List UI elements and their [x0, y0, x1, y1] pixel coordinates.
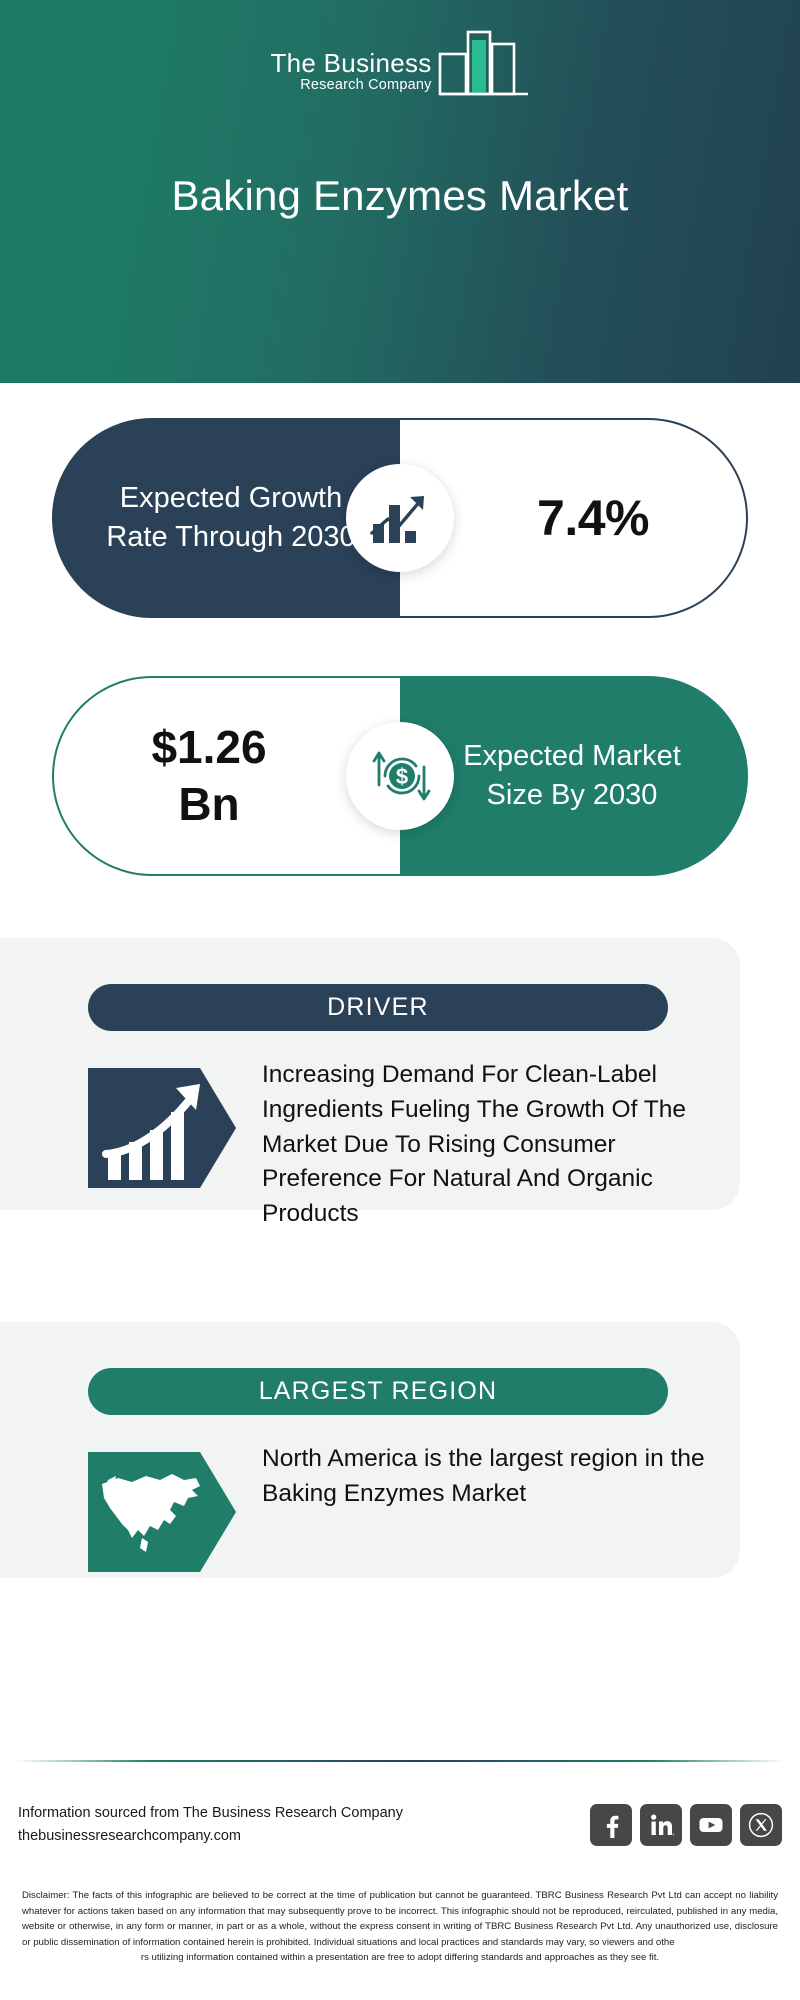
- logo-primary-text: The Business: [270, 50, 431, 76]
- svg-text:$: $: [396, 764, 408, 789]
- region-heading-pill: LARGEST REGION: [88, 1368, 668, 1415]
- social-links: ®: [590, 1804, 782, 1846]
- footer-website-link[interactable]: thebusinessresearchcompany.com: [18, 1825, 403, 1848]
- youtube-icon[interactable]: [690, 1804, 732, 1846]
- disclaimer-block: Disclaimer: The facts of this infographi…: [0, 1888, 800, 1966]
- brand-logo: The Business Research Company: [0, 24, 800, 96]
- dollar-refresh-icon: $: [346, 722, 454, 830]
- stat-card-market-size: $1.26 Bn Expected Market Size By 2030 $: [52, 676, 748, 876]
- stat-market-size-value-line2: Bn: [178, 778, 239, 830]
- linkedin-icon[interactable]: ®: [640, 1804, 682, 1846]
- disclaimer-last-line: rs utilizing information contained withi…: [22, 1950, 778, 1966]
- footer-source-block: Information sourced from The Business Re…: [18, 1802, 403, 1848]
- logo-secondary-text: Research Company: [270, 78, 431, 93]
- stat-market-size-value-line1: $1.26: [151, 721, 266, 773]
- stat-growth-rate-value: 7.4%: [537, 489, 649, 547]
- disclaimer-body: Disclaimer: The facts of this infographi…: [22, 1890, 778, 1948]
- driver-heading-pill: DRIVER: [88, 984, 668, 1031]
- stat-growth-rate-label: Expected Growth Rate Through 2030: [106, 479, 356, 558]
- stat-card-growth-rate: Expected Growth Rate Through 2030 7.4%: [52, 418, 748, 618]
- region-heading-label: LARGEST REGION: [259, 1377, 498, 1406]
- x-twitter-icon[interactable]: [740, 1804, 782, 1846]
- largest-region-panel: LARGEST REGION North America is the larg…: [0, 1322, 740, 1578]
- region-text: North America is the largest region in t…: [262, 1438, 728, 1586]
- svg-text:®: ®: [673, 1832, 674, 1837]
- region-body: North America is the largest region in t…: [88, 1438, 728, 1586]
- stat-market-size-label: Expected Market Size By 2030: [446, 737, 698, 816]
- stat-market-size-value: $1.26 Bn: [151, 719, 266, 834]
- north-america-map-icon: [88, 1438, 236, 1586]
- logo-bar-chart-icon: [438, 24, 530, 96]
- driver-heading-label: DRIVER: [327, 993, 429, 1022]
- footer-source-line: Information sourced from The Business Re…: [18, 1802, 403, 1825]
- page-title: Baking Enzymes Market: [0, 172, 800, 220]
- header-banner: The Business Research Company Baking Enz…: [0, 0, 800, 383]
- footer: Information sourced from The Business Re…: [0, 1785, 800, 1865]
- driver-text: Increasing Demand For Clean-Label Ingred…: [262, 1054, 728, 1232]
- infographic-page: The Business Research Company Baking Enz…: [0, 0, 800, 2000]
- facebook-icon[interactable]: [590, 1804, 632, 1846]
- footer-divider: [14, 1760, 786, 1762]
- growth-chart-arrow-icon: [88, 1054, 236, 1202]
- driver-panel: DRIVER Increasing Demand For Clean-Label…: [0, 938, 740, 1210]
- growth-bar-chart-icon: [346, 464, 454, 572]
- driver-body: Increasing Demand For Clean-Label Ingred…: [88, 1054, 728, 1232]
